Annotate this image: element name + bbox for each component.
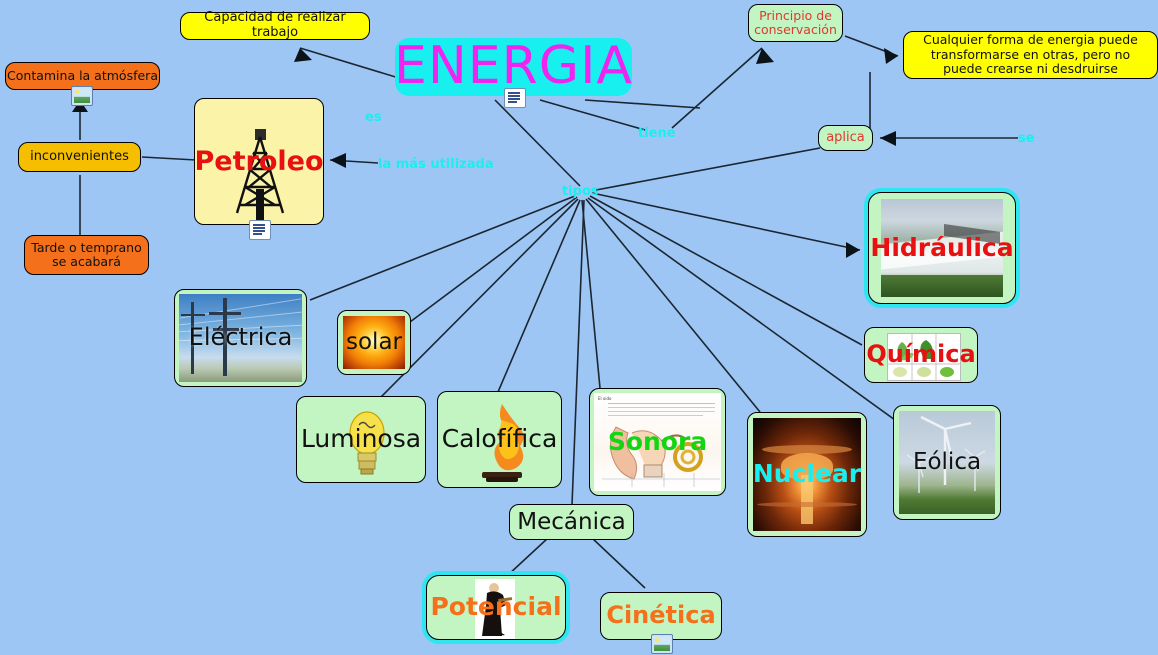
node-label: Contamina la atmósfera <box>7 69 158 83</box>
node-solar[interactable]: solar <box>337 310 411 375</box>
node-principio-conservacion[interactable]: Principio de conservación <box>748 4 843 42</box>
node-label: Luminosa <box>301 425 421 454</box>
image-icon[interactable] <box>71 86 93 106</box>
node-label: Petroleo <box>195 146 324 177</box>
image-icon[interactable] <box>651 634 673 654</box>
node-quimica[interactable]: Química <box>864 327 978 383</box>
node-tarde-o-temprano[interactable]: Tarde o temprano se acabará <box>24 235 149 275</box>
node-label: Eléctrica <box>189 324 293 352</box>
node-sonora[interactable]: El oido Sonora <box>589 388 726 496</box>
node-label: aplica <box>826 131 865 146</box>
node-cinetica[interactable]: Cinética <box>600 592 722 640</box>
node-label: Hidráulica <box>870 234 1013 263</box>
node-label: Calofífica <box>442 425 558 454</box>
connector-label-es: es <box>365 110 382 125</box>
node-calofifica[interactable]: Calofífica <box>437 391 562 488</box>
node-label: Sonora <box>608 428 707 457</box>
node-electrica[interactable]: Eléctrica <box>174 289 307 387</box>
node-hidraulica[interactable]: Hidráulica <box>868 192 1016 304</box>
node-label: Cinética <box>606 602 715 630</box>
node-label: Cualquier forma de energia puede transfo… <box>910 33 1151 76</box>
node-label: Tarde o temprano se acabará <box>31 241 141 270</box>
mindmap-canvas: ENERGIA es tiene tipos se la más utiliza… <box>0 0 1158 655</box>
connector-label-tipos: tipos <box>562 184 599 199</box>
node-label: Capacidad de realizar trabajo <box>181 11 369 41</box>
node-label: inconvenientes <box>30 150 129 165</box>
node-label: solar <box>346 329 402 355</box>
connector-label-se: se <box>1018 131 1035 146</box>
node-eolica[interactable]: Eólica <box>893 405 1001 520</box>
node-label: Nuclear <box>753 460 861 489</box>
node-label: Potencial <box>430 593 561 622</box>
node-label: Principio de conservación <box>754 9 837 38</box>
node-inconvenientes[interactable]: inconvenientes <box>18 142 141 172</box>
node-aplica[interactable]: aplica <box>818 125 873 151</box>
node-petroleo[interactable]: Petroleo <box>194 98 324 225</box>
connector-label-la-mas-utilizada: la más utilizada <box>378 157 494 172</box>
node-luminosa[interactable]: Luminosa <box>296 396 426 483</box>
note-icon[interactable] <box>504 88 526 108</box>
note-icon[interactable] <box>249 220 271 240</box>
node-enunciado-conservacion[interactable]: Cualquier forma de energia puede transfo… <box>903 31 1158 79</box>
node-capacidad-realizar-trabajo[interactable]: Capacidad de realizar trabajo <box>180 12 370 40</box>
node-potencial[interactable]: Potencial <box>426 575 566 640</box>
connector-label-tiene: tiene <box>638 126 676 141</box>
node-nuclear[interactable]: Nuclear <box>747 412 867 537</box>
node-mecanica[interactable]: Mecánica <box>509 504 634 540</box>
node-label: Química <box>866 341 975 369</box>
node-label: Eólica <box>913 449 981 475</box>
node-label: Mecánica <box>517 509 625 535</box>
